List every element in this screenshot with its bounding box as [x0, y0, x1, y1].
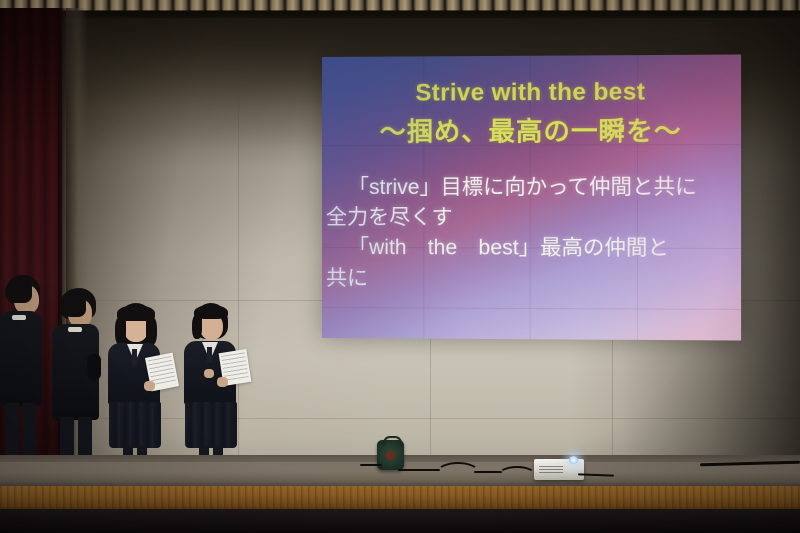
slide-line-3: 「with the best」最高の仲間と — [326, 233, 737, 264]
projector-lens — [569, 456, 578, 464]
cable-reel-handle — [383, 436, 402, 446]
power-cable — [398, 469, 440, 471]
student-3-hair-side — [115, 317, 126, 345]
student-1-hair-front — [5, 277, 32, 303]
student-4-hand — [217, 377, 228, 387]
valance-shadow — [0, 10, 800, 18]
stage-apron-edge — [0, 486, 800, 511]
slide-content: Strive with the best 〜掴め、最高の一瞬を〜 「strive… — [322, 54, 741, 340]
student-2-bag — [87, 354, 101, 380]
slide-line-4: 共に — [326, 264, 737, 296]
student-2-collar — [68, 327, 82, 332]
foreground-floor — [0, 509, 800, 533]
student-3-skirt — [109, 402, 161, 448]
projector — [534, 459, 584, 480]
student-4-tie — [207, 347, 212, 363]
projector-control-panel — [539, 466, 563, 475]
student-1-jacket — [0, 311, 42, 406]
slide-body-text: 「strive」目標に向かって仲間と共に 全力を尽くす 「with the be… — [326, 173, 737, 296]
student-4-hand — [204, 369, 214, 378]
stage-valance-curtain — [0, 0, 800, 16]
student-4-skirt — [185, 402, 237, 448]
projection-screen: Strive with the best 〜掴め、最高の一瞬を〜 「strive… — [322, 54, 741, 340]
power-cable — [498, 466, 536, 484]
student-2-hair-front — [60, 291, 86, 317]
student-4-hair-side — [192, 315, 202, 339]
student-3-hand — [144, 381, 155, 391]
student-3-tie — [132, 349, 137, 365]
student-1-collar — [12, 315, 26, 320]
slide-line-1: 「strive」目標に向かって仲間と共に — [326, 173, 737, 204]
slide-subtitle: 〜掴め、最高の一瞬を〜 — [322, 118, 741, 147]
power-cable — [360, 464, 382, 466]
stage-presentation-photo: Strive with the best 〜掴め、最高の一瞬を〜 「strive… — [0, 0, 800, 533]
slide-title: Strive with the best — [322, 79, 741, 106]
slide-line-2: 全力を尽くす — [326, 203, 737, 234]
cable-reel-hub — [386, 451, 395, 460]
student-3-hair-side — [146, 317, 157, 345]
power-cable — [436, 462, 480, 484]
